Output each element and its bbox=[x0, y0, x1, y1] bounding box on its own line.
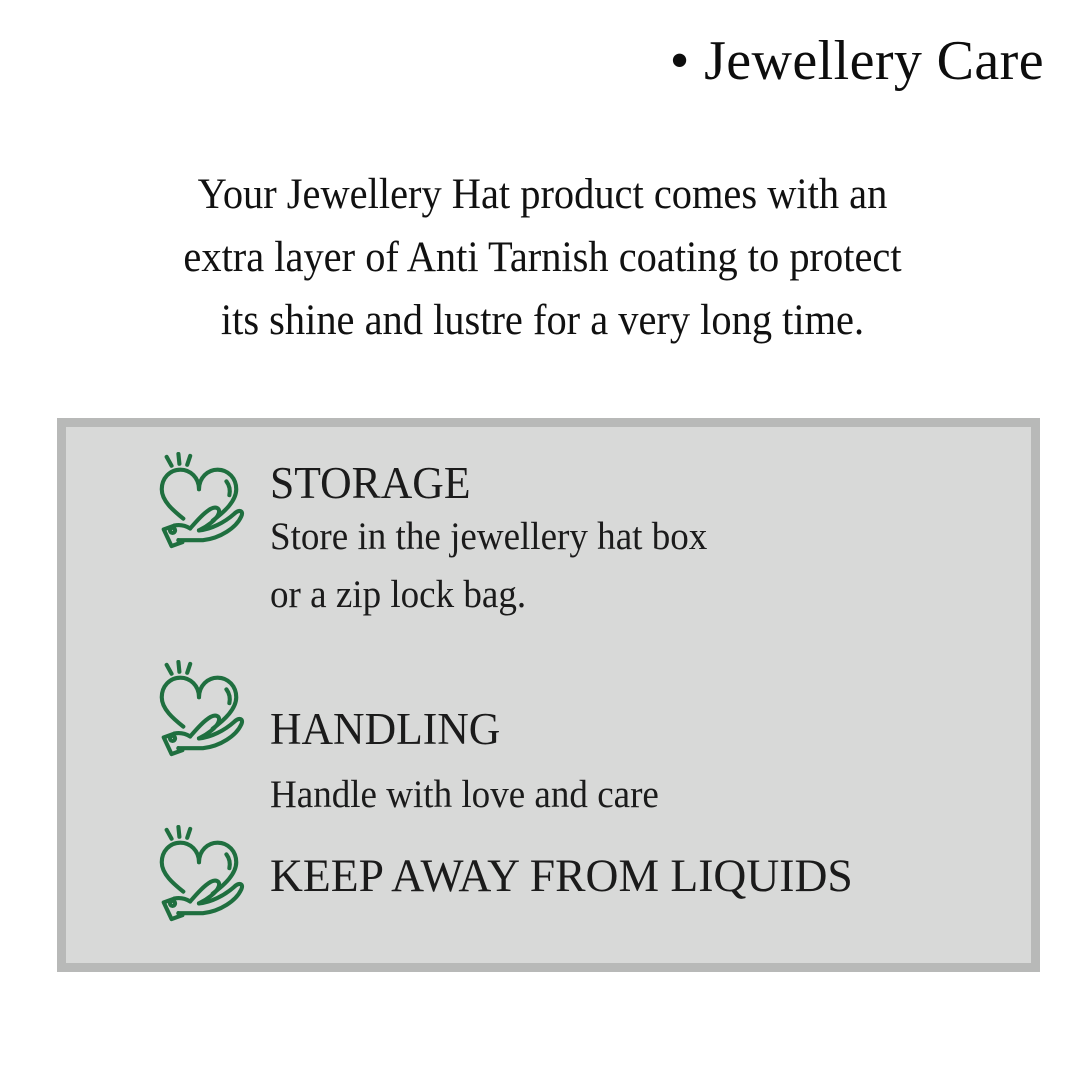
care-list: STORAGE Store in the jewellery hat box o… bbox=[66, 427, 1031, 963]
hand-holding-heart-icon bbox=[150, 452, 248, 550]
title-bullet: • bbox=[670, 30, 690, 92]
care-instructions-box: STORAGE Store in the jewellery hat box o… bbox=[57, 418, 1040, 972]
care-item-storage: STORAGE Store in the jewellery hat box o… bbox=[150, 452, 730, 624]
page-title-text: • Jewellery Care bbox=[670, 30, 1044, 92]
page-title: • Jewellery Care bbox=[0, 30, 1044, 92]
care-item-heading: HANDLING bbox=[270, 704, 667, 754]
care-item-text: STORAGE Store in the jewellery hat box o… bbox=[270, 452, 730, 624]
care-item-text: KEEP AWAY FROM LIQUIDS bbox=[270, 825, 871, 901]
care-item-description: Store in the jewellery hat box or a zip … bbox=[270, 508, 707, 624]
care-item-text: HANDLING Handle with love and care bbox=[270, 660, 679, 824]
care-item-keep-away-from-liquids: KEEP AWAY FROM LIQUIDS bbox=[150, 825, 871, 923]
hand-holding-heart-icon bbox=[150, 825, 248, 923]
care-item-handling: HANDLING Handle with love and care bbox=[150, 660, 679, 824]
title-label: Jewellery Care bbox=[704, 30, 1044, 92]
care-item-description-line: Store in the jewellery hat box bbox=[270, 508, 707, 566]
care-item-description-line: Handle with love and care bbox=[270, 766, 659, 824]
intro-paragraph: Your Jewellery Hat product comes with an… bbox=[98, 163, 986, 352]
care-item-description: Handle with love and care bbox=[270, 766, 659, 824]
hand-holding-heart-icon bbox=[150, 660, 248, 758]
jewellery-care-card: • Jewellery Care Your Jewellery Hat prod… bbox=[0, 0, 1080, 1080]
care-item-heading: KEEP AWAY FROM LIQUIDS bbox=[270, 851, 853, 901]
intro-line-1: Your Jewellery Hat product comes with an bbox=[98, 163, 986, 226]
intro-line-3: its shine and lustre for a very long tim… bbox=[98, 289, 986, 352]
intro-line-2: extra layer of Anti Tarnish coating to p… bbox=[98, 226, 986, 289]
care-item-heading: STORAGE bbox=[270, 458, 716, 508]
care-item-description-line: or a zip lock bag. bbox=[270, 566, 707, 624]
